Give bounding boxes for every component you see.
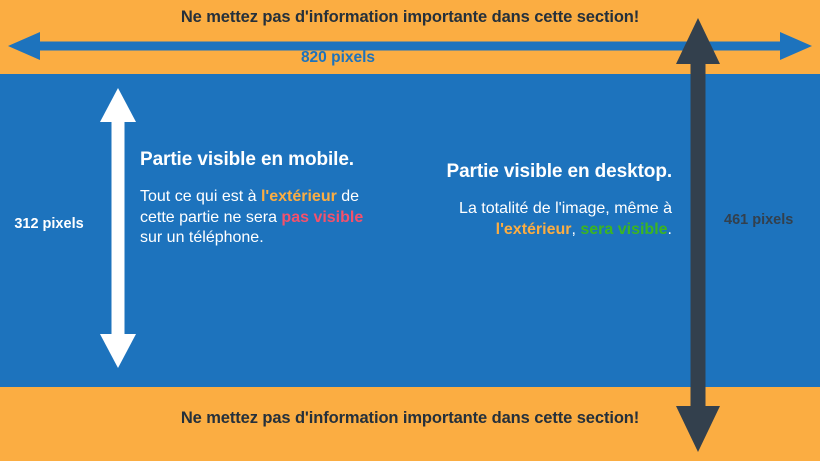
mobile-height-label: 312 pixels [0, 216, 98, 232]
mobile-body-emphasis-pas-visible: pas visible [281, 209, 363, 226]
mobile-safe-band [0, 74, 820, 387]
mobile-info-block: Partie visible en mobile. Tout ce qui es… [140, 148, 370, 249]
desktop-block-title: Partie visible en desktop. [440, 160, 672, 183]
mobile-body-part1: Tout ce qui est à [140, 188, 261, 205]
desktop-body-emphasis-exterieur: l'extérieur [496, 221, 572, 238]
mobile-body-emphasis-exterieur: l'extérieur [261, 188, 337, 205]
mobile-block-title: Partie visible en mobile. [140, 148, 370, 171]
infographic-canvas: Ne mettez pas d'information importante d… [0, 0, 820, 461]
desktop-info-block: Partie visible en desktop. La totalité d… [440, 160, 672, 240]
width-dimension-label: 820 pixels [0, 49, 676, 67]
bottom-warning-text: Ne mettez pas d'information importante d… [0, 409, 820, 428]
top-warning-text: Ne mettez pas d'information importante d… [0, 8, 820, 27]
desktop-body-part1: La totalité de l'image, même à [459, 200, 672, 217]
mobile-block-body: Tout ce qui est à l'extérieur de cette p… [140, 187, 370, 248]
desktop-body-part3: . [668, 221, 672, 238]
mobile-body-part3: sur un téléphone. [140, 229, 264, 246]
desktop-height-label: 461 pixels [724, 212, 820, 228]
desktop-body-emphasis-sera-visible: sera visible [580, 221, 667, 238]
desktop-block-body: La totalité de l'image, même à l'extérie… [440, 199, 672, 240]
